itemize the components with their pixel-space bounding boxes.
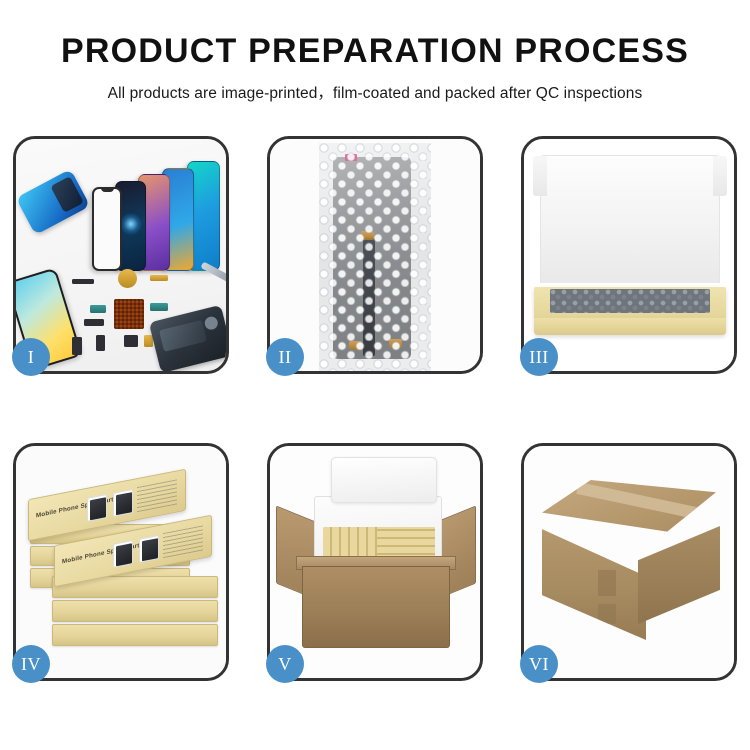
- step-badge-3: III: [520, 338, 558, 376]
- phone-screen-fan: [72, 153, 222, 271]
- stacked-box-2: [52, 600, 218, 622]
- cable-part-icon: [84, 319, 104, 326]
- small-flex-icon: [96, 335, 105, 351]
- white-box-lid: [540, 155, 720, 283]
- foam-box-lid: [331, 457, 437, 503]
- step-badge-4: IV: [12, 645, 50, 683]
- step-image-2: [270, 139, 480, 371]
- box-thumbnail-1a: [87, 494, 107, 522]
- carton-left-face: [542, 522, 646, 640]
- step-image-3: [524, 139, 734, 371]
- box-spec-lines-1: [137, 479, 177, 513]
- packing-tape: [576, 482, 712, 522]
- step-badge-5: V: [266, 645, 304, 683]
- step-image-6: [524, 446, 734, 678]
- step-panel-4: Mobile Phone Spare Parts Mobile Phone Sp…: [13, 443, 229, 681]
- gray-foam-insert: [550, 289, 710, 313]
- box-spec-lines-2: [163, 525, 203, 559]
- carton-front-wall: [302, 566, 450, 648]
- bubble-texture: [319, 143, 431, 371]
- step-panel-6: VI: [521, 443, 737, 681]
- antenna-flex-icon: [90, 305, 106, 313]
- kraft-tray: [534, 287, 726, 335]
- step-image-1: [16, 139, 226, 371]
- sealed-carton: [538, 480, 724, 642]
- header: PRODUCT PREPARATION PROCESS All products…: [0, 0, 750, 103]
- box-thumbnail-2a: [113, 540, 133, 568]
- phone-screen-5: [92, 187, 122, 271]
- carton-top-face: [542, 480, 716, 548]
- stacked-box-1: [52, 624, 218, 646]
- volume-flex-icon: [150, 303, 168, 311]
- carton-right-face: [638, 526, 720, 640]
- spare-parts-group: [70, 263, 226, 367]
- page-subtitle: All products are image-printed，film-coat…: [0, 81, 750, 103]
- speaker-part-icon: [118, 269, 137, 288]
- vibrator-part-icon: [124, 335, 138, 347]
- step-image-5: [270, 446, 480, 678]
- sim-tray-icon: [72, 337, 82, 355]
- carton-seam-lower: [598, 604, 616, 624]
- step-panel-5: V: [267, 443, 483, 681]
- product-preparation-infographic: PRODUCT PREPARATION PROCESS All products…: [0, 0, 750, 750]
- tray-front-lip: [534, 318, 726, 335]
- tweezers-icon: [200, 261, 226, 283]
- step-panel-1: I: [13, 136, 229, 374]
- step-badge-2: II: [266, 338, 304, 376]
- flex-connector-icon: [150, 275, 168, 281]
- step-panel-2: II: [267, 136, 483, 374]
- page-title: PRODUCT PREPARATION PROCESS: [0, 34, 750, 68]
- earpiece-part-icon: [72, 279, 94, 284]
- step-badge-6: VI: [520, 645, 558, 683]
- process-steps-grid: I II: [13, 136, 737, 681]
- bubble-wrap-bag: [319, 143, 431, 371]
- box-thumbnail-1b: [113, 489, 133, 517]
- carton-seam-upper: [598, 570, 616, 596]
- phone-backplate-icon: [149, 305, 226, 371]
- shield-mesh-icon: [114, 299, 144, 329]
- box-stack: Mobile Phone Spare Parts Mobile Phone Sp…: [24, 466, 224, 666]
- step-badge-1: I: [12, 338, 50, 376]
- box-thumbnail-2b: [139, 535, 159, 563]
- step-panel-3: III: [521, 136, 737, 374]
- step-image-4: Mobile Phone Spare Parts Mobile Phone Sp…: [16, 446, 226, 678]
- outer-carton-open: [288, 498, 464, 648]
